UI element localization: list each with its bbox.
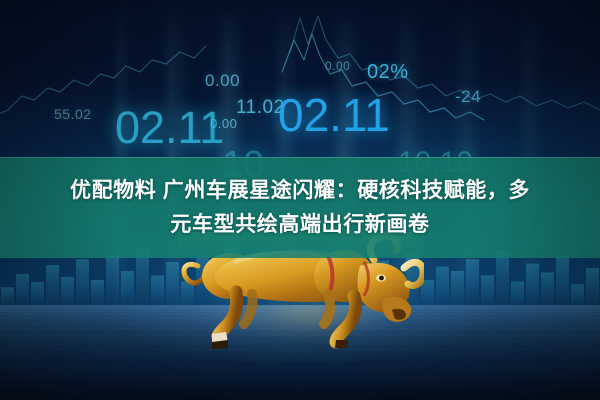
vignette-overlay xyxy=(0,0,600,400)
news-banner: 0.0055.0211.020.000.0002%-2402.1102.1110… xyxy=(0,0,600,400)
